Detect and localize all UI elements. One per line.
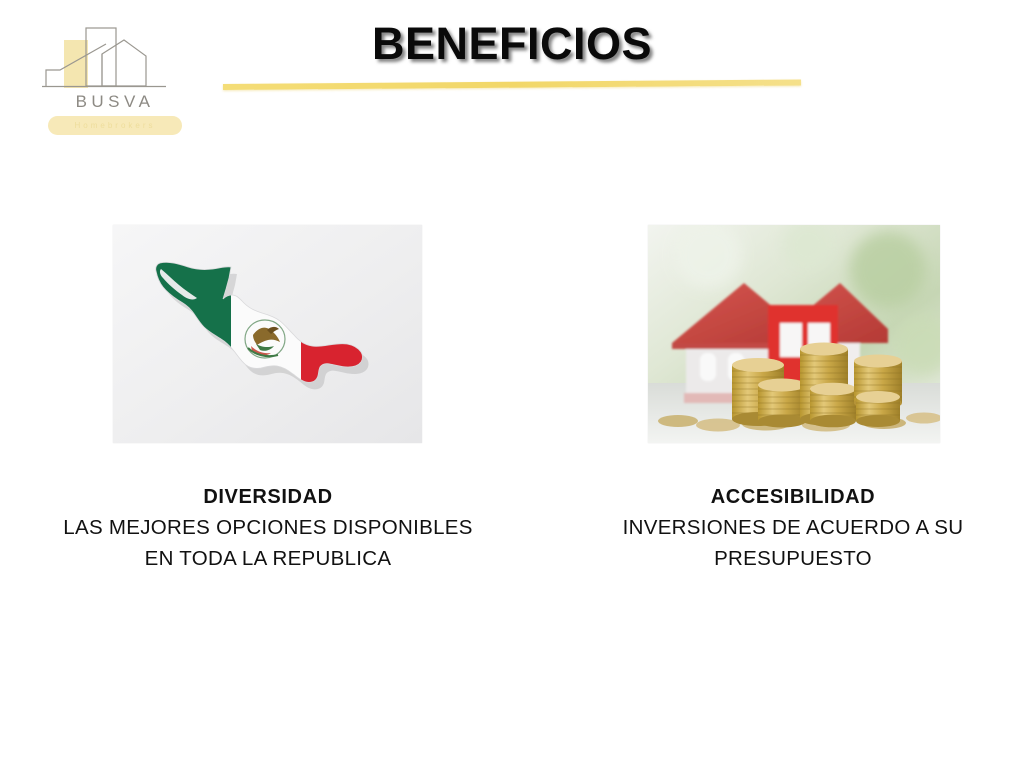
- benefit-title: DIVERSIDAD: [18, 482, 518, 512]
- benefit-card-diversidad: DIVERSIDAD LAS MEJORES OPCIONES DISPONIB…: [113, 225, 422, 443]
- benefit-caption-accesibilidad: ACCESIBILIDAD INVERSIONES DE ACUERDO A S…: [593, 482, 993, 574]
- logo-wordmark: BUSVA: [40, 92, 190, 112]
- house-coins-image: [648, 225, 940, 443]
- page-title: BENEFICIOS: [0, 18, 1024, 70]
- benefit-title: ACCESIBILIDAD: [593, 482, 993, 512]
- title-underline-rule: [223, 79, 801, 90]
- mexico-map-flag-image: [113, 225, 422, 443]
- logo-tagline: Homebrokers: [74, 121, 155, 130]
- benefit-caption-diversidad: DIVERSIDAD LAS MEJORES OPCIONES DISPONIB…: [18, 482, 518, 574]
- benefit-body-line-2: PRESUPUESTO: [593, 543, 993, 574]
- benefit-body-line-2: EN TODA LA REPUBLICA: [18, 543, 518, 574]
- benefit-body-line-1: INVERSIONES DE ACUERDO A SU: [593, 512, 993, 543]
- benefit-card-accesibilidad: ACCESIBILIDAD INVERSIONES DE ACUERDO A S…: [648, 225, 940, 443]
- benefit-body-line-1: LAS MEJORES OPCIONES DISPONIBLES: [18, 512, 518, 543]
- logo-tagline-pill: Homebrokers: [48, 116, 182, 135]
